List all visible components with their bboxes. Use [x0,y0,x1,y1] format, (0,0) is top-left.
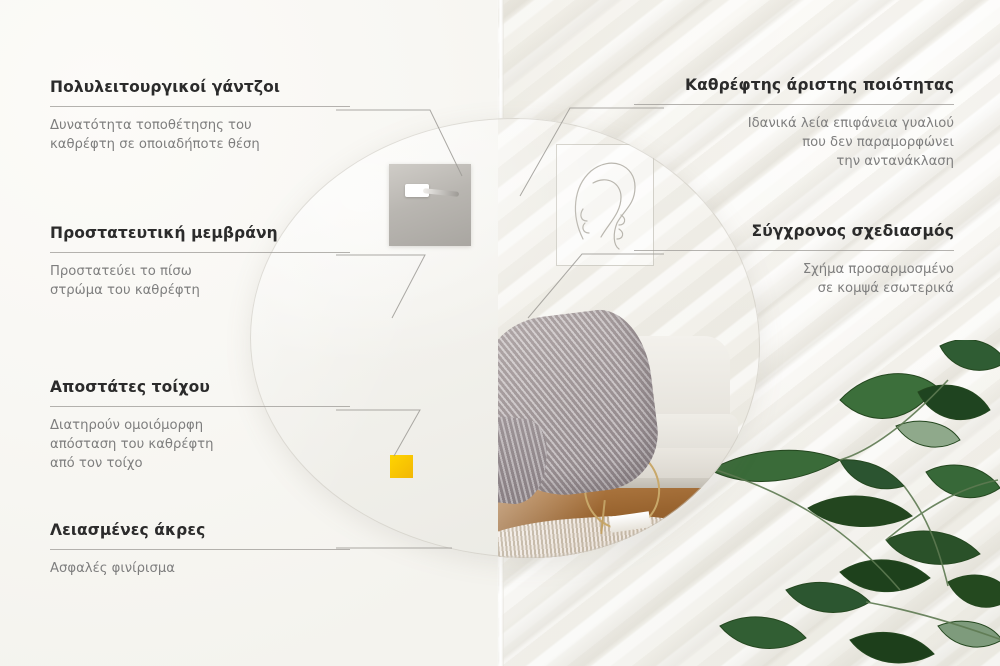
hook-detail-inset [389,164,471,246]
feature-smoothed-edges: Λειασμένες άκρες Ασφαλές φινίρισμα [50,521,350,578]
mirror-product [250,118,760,558]
feature-modern-design: Σύγχρονος σχεδιασμός Σχήμα προσαρμοσμένο… [634,222,954,298]
feature-description: Ασφαλές φινίρισμα [50,559,350,578]
feature-description: Προστατεύει το πίσω στρώμα του καθρέφτη [50,262,350,300]
feature-protective-membrane: Προστατευτική μεμβράνη Προστατεύει το πί… [50,224,350,300]
feature-description: Ιδανικά λεία επιφάνεια γυαλιού που δεν π… [634,114,954,171]
feature-title: Λειασμένες άκρες [50,521,350,540]
feature-title: Αποστάτες τοίχου [50,378,350,397]
feature-top-quality-mirror: Καθρέφτης άριστης ποιότητας Ιδανικά λεία… [634,76,954,171]
feature-title: Καθρέφτης άριστης ποιότητας [634,76,954,95]
feature-rule [50,106,350,107]
feature-wall-spacers: Αποστάτες τοίχου Διατηρούν ομοιόμορφη απ… [50,378,350,473]
feature-rule [50,252,350,253]
feature-rule [634,104,954,105]
feature-rule [634,250,954,251]
wall-spacer-swatch [390,455,413,478]
feature-description: Δυνατότητα τοποθέτησης του καθρέφτη σε ο… [50,116,350,154]
feature-rule [50,406,350,407]
feature-title: Πολυλειτουργικοί γάντζοι [50,78,350,97]
feature-title: Προστατευτική μεμβράνη [50,224,350,243]
feature-title: Σύγχρονος σχεδιασμός [634,222,954,241]
feature-rule [50,549,350,550]
reflected-room-scene [498,118,760,558]
infographic-canvas: Πολυλειτουργικοί γάντζοι Δυνατότητα τοπο… [0,0,1000,666]
feature-description: Σχήμα προσαρμοσμένο σε κομψά εσωτερικά [634,260,954,298]
feature-multifunctional-hooks: Πολυλειτουργικοί γάντζοι Δυνατότητα τοπο… [50,78,350,154]
feature-description: Διατηρούν ομοιόμορφη απόσταση του καθρέφ… [50,416,350,473]
mirror-glass [250,118,760,558]
